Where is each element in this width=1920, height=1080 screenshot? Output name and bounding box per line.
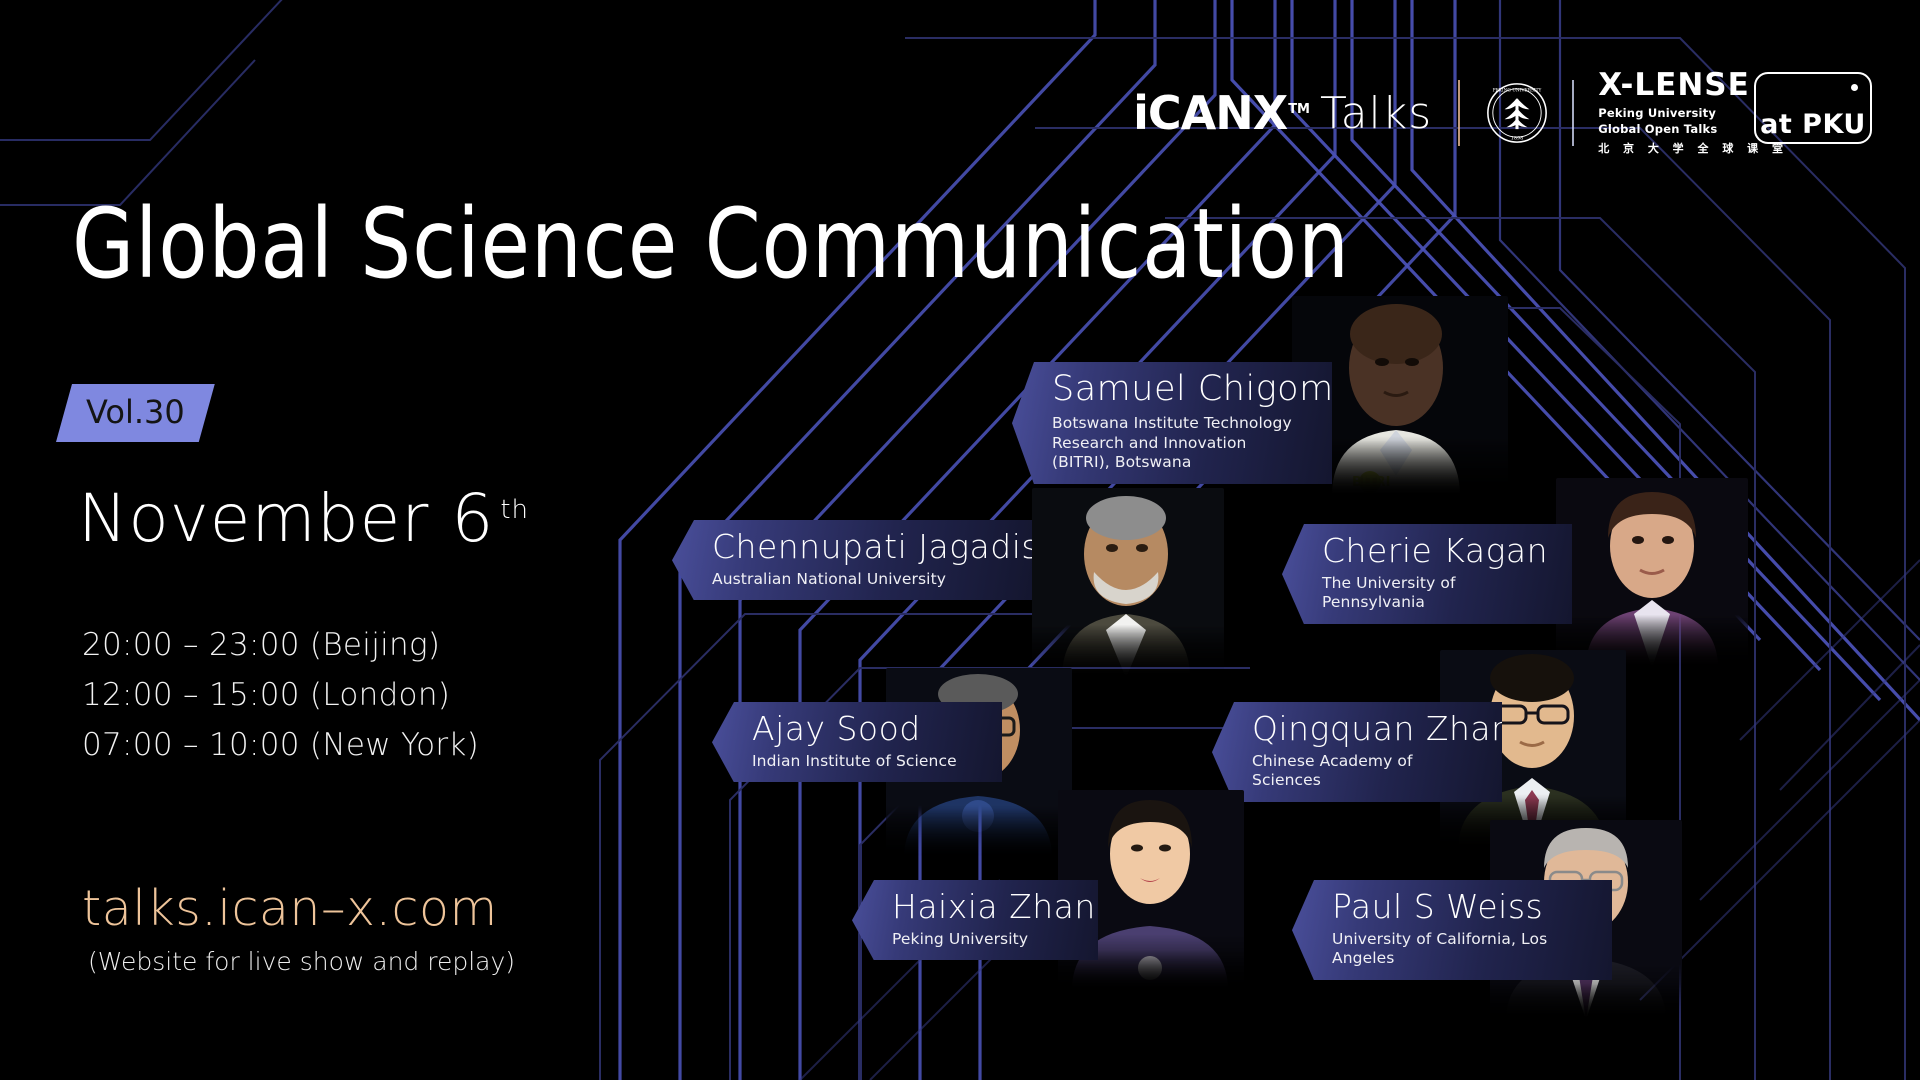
xlense-at-pku-logo[interactable]: X-LENSE Peking University Global Open Ta… — [1598, 70, 1872, 156]
speaker-portrait-cherie-kagan — [1556, 478, 1748, 668]
speaker-photo — [1556, 478, 1748, 668]
speaker-affiliation: Peking University — [892, 930, 1074, 950]
header-logos: iCANXTM Talks PEKING UNIVERSITY 1898 X-L… — [1133, 70, 1872, 156]
speaker-name: Qingquan Zhang — [1252, 711, 1478, 747]
timezone-row: 20:00 – 23:00 (Beijing) — [82, 620, 479, 670]
poster-root: iCANXTM Talks PEKING UNIVERSITY 1898 X-L… — [0, 0, 1920, 1080]
speaker-affiliation: Chinese Academy of Sciences — [1252, 752, 1478, 792]
speaker-nameplate: Haixia Zhang Peking University — [852, 880, 1098, 960]
speaker-name: Chennupati Jagadish — [712, 529, 1008, 565]
speaker-photo — [1032, 488, 1224, 678]
speaker-name: Samuel Chigome — [1052, 371, 1308, 409]
speaker-nameplate: Paul S Weiss University of California, L… — [1292, 880, 1612, 980]
svg-text:PEKING UNIVERSITY: PEKING UNIVERSITY — [1493, 88, 1542, 93]
website-url[interactable]: talks.ican–x.com — [82, 880, 498, 937]
speaker-affiliation: Botswana Institute Technology Research a… — [1052, 414, 1308, 473]
icanx-wordmark: iCANXTM — [1133, 90, 1310, 136]
svg-text:BITRI: BITRI — [1352, 475, 1390, 490]
speaker-affiliation: Indian Institute of Science — [752, 752, 978, 772]
event-date: November 6th — [78, 480, 529, 557]
trademark-icon: TM — [1288, 102, 1310, 117]
event-date-text: November 6 — [78, 480, 494, 557]
peking-university-seal-icon: PEKING UNIVERSITY 1898 — [1486, 82, 1548, 144]
page-title: Global Science Communication — [72, 188, 1350, 300]
timezone-row: 12:00 – 15:00 (London) — [82, 670, 479, 720]
at-pku-badge: at PKU — [1754, 72, 1872, 144]
header-divider-1 — [1458, 80, 1460, 146]
speaker-name: Paul S Weiss — [1332, 889, 1588, 925]
speaker-nameplate: Samuel Chigome Botswana Institute Techno… — [1012, 362, 1332, 484]
speaker-nameplate: Cherie Kagan The University of Pennsylva… — [1282, 524, 1572, 624]
at-pku-label: at PKU — [1760, 111, 1866, 138]
speaker-nameplate: Qingquan Zhang Chinese Academy of Scienc… — [1212, 702, 1502, 802]
xlense-chinese-subtitle: 北 京 大 学 全 球 课 堂 — [1598, 140, 1788, 156]
speaker-affiliation: Australian National University — [712, 570, 1008, 590]
header-divider-2 — [1572, 80, 1574, 146]
speaker-nameplate: Ajay Sood Indian Institute of Science — [712, 702, 1002, 782]
timezone-list: 20:00 – 23:00 (Beijing) 12:00 – 15:00 (L… — [82, 620, 479, 771]
speaker-nameplate: Chennupati Jagadish Australian National … — [672, 520, 1032, 600]
speaker-name: Haixia Zhang — [892, 889, 1074, 925]
speaker-affiliation: University of California, Los Angeles — [1332, 930, 1588, 970]
speaker-portrait-chennupati-jagadish — [1032, 488, 1224, 678]
speaker-name: Cherie Kagan — [1322, 533, 1548, 569]
badge-dot-icon — [1851, 84, 1858, 91]
volume-badge-label: Vol.30 — [56, 384, 215, 442]
talks-wordmark: Talks — [1320, 92, 1432, 136]
svg-text:1898: 1898 — [1511, 136, 1524, 142]
event-date-ordinal: th — [500, 495, 529, 525]
timezone-row: 07:00 – 10:00 (New York) — [82, 720, 479, 770]
speaker-affiliation: The University of Pennsylvania — [1322, 574, 1548, 614]
speaker-name: Ajay Sood — [752, 711, 978, 747]
icanx-talks-logo[interactable]: iCANXTM Talks — [1133, 90, 1432, 136]
volume-badge: Vol.30 — [56, 384, 215, 442]
website-note: (Website for live show and replay) — [88, 947, 515, 976]
